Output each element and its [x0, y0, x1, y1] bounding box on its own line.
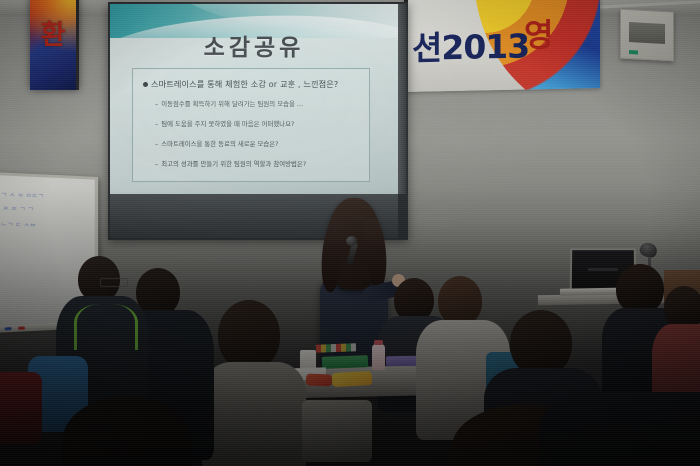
dash-icon: – — [155, 100, 158, 108]
whiteboard-ink-2: ᄌ ᄎ ᄀ ᄀ — [3, 205, 34, 216]
red-backpack — [0, 372, 42, 444]
marker-red-icon — [18, 327, 25, 330]
status-led — [629, 50, 638, 54]
slide-sub-bullet-1-text: 이동점수를 획득하기 위해 달려가는 팀원의 모습을 … — [161, 100, 303, 108]
handheld-microphone-head — [346, 236, 357, 246]
torso — [202, 362, 306, 466]
banner-left-character: 환 — [41, 22, 66, 49]
slide-main-bullet: 스마트레이스를 통해 체험한 소감 or 교훈 , 느낀점은? — [143, 78, 365, 90]
slide-main-bullet-text: 스마트레이스를 통해 체험한 소감 or 교훈 , 느낀점은? — [151, 79, 338, 89]
bullet-dot-icon — [143, 82, 148, 87]
photo-scene: 환 션2013 영 소감공유 스마트레이스를 통해 체험한 소감 or 교훈 ,… — [0, 0, 700, 466]
whiteboard-ink-1: ᄀ ᄉ ᄒ ᄋᄃᄀ — [1, 191, 44, 202]
slide-sub-bullet-2-text: 팀에 도움을 주지 못하였을 때 마음은 어떠했나요? — [161, 120, 294, 128]
marker-blue-icon — [5, 327, 12, 330]
banner-left: 환 — [30, 0, 79, 90]
slide-sub-bullet-2: –팀에 도움을 주지 못하였을 때 마음은 어떠했나요? — [155, 119, 365, 128]
wall-speaker-icon — [620, 9, 674, 62]
head — [218, 300, 280, 370]
banner-right-character: 영 — [524, 19, 553, 52]
foreground-shoulder — [540, 392, 700, 466]
dash-icon: – — [155, 140, 158, 148]
head — [510, 310, 572, 376]
slide-sub-bullet-1: –이동점수를 획득하기 위해 달려가는 팀원의 모습을 … — [155, 99, 365, 108]
green-box-item — [322, 355, 368, 369]
dash-icon: – — [155, 120, 158, 128]
laptop-logo — [588, 268, 618, 271]
slide-content-box: 스마트레이스를 통해 체험한 소감 or 교훈 , 느낀점은? –이동점수를 획… — [132, 68, 370, 182]
slide-title: 소감공유 — [110, 28, 398, 62]
bottle-cap — [374, 340, 383, 345]
drink-bottle — [372, 344, 385, 370]
banner-right: 션2013 영 — [404, 0, 600, 92]
chair-back-2 — [302, 400, 372, 462]
slide-sub-bullet-4: –최고의 성과를 만들기 위한 팀원의 역할과 참여방법은? — [155, 159, 365, 168]
hoodie-stripe — [74, 304, 138, 350]
eyeglasses-icon — [100, 278, 128, 287]
head — [438, 276, 482, 326]
yellow-snack-bag — [332, 371, 373, 387]
slide-sub-bullet-4-text: 최고의 성과를 만들기 위한 팀원의 역할과 참여방법은? — [161, 160, 306, 168]
whiteboard-ink-3: ᄂᄀ ᄃ ᄉᄇ — [1, 221, 36, 231]
presentation-slide: 소감공유 스마트레이스를 통해 체험한 소감 or 교훈 , 느낀점은? –이동… — [110, 4, 398, 194]
screen-right-shadow — [398, 4, 406, 194]
speaker-grill — [629, 22, 665, 44]
slide-sub-bullet-3-text: 스마트레이스을 통한 동료의 새로운 모습은? — [161, 140, 278, 148]
head — [136, 268, 180, 316]
head — [616, 264, 664, 314]
red-snack-bag — [306, 374, 332, 387]
dash-icon: – — [155, 160, 158, 168]
colored-paper-scraps — [316, 343, 356, 352]
banner-year-text: 션2013 — [412, 19, 529, 69]
slide-sub-bullet-3: –스마트레이스을 통한 동료의 새로운 모습은? — [155, 139, 365, 148]
